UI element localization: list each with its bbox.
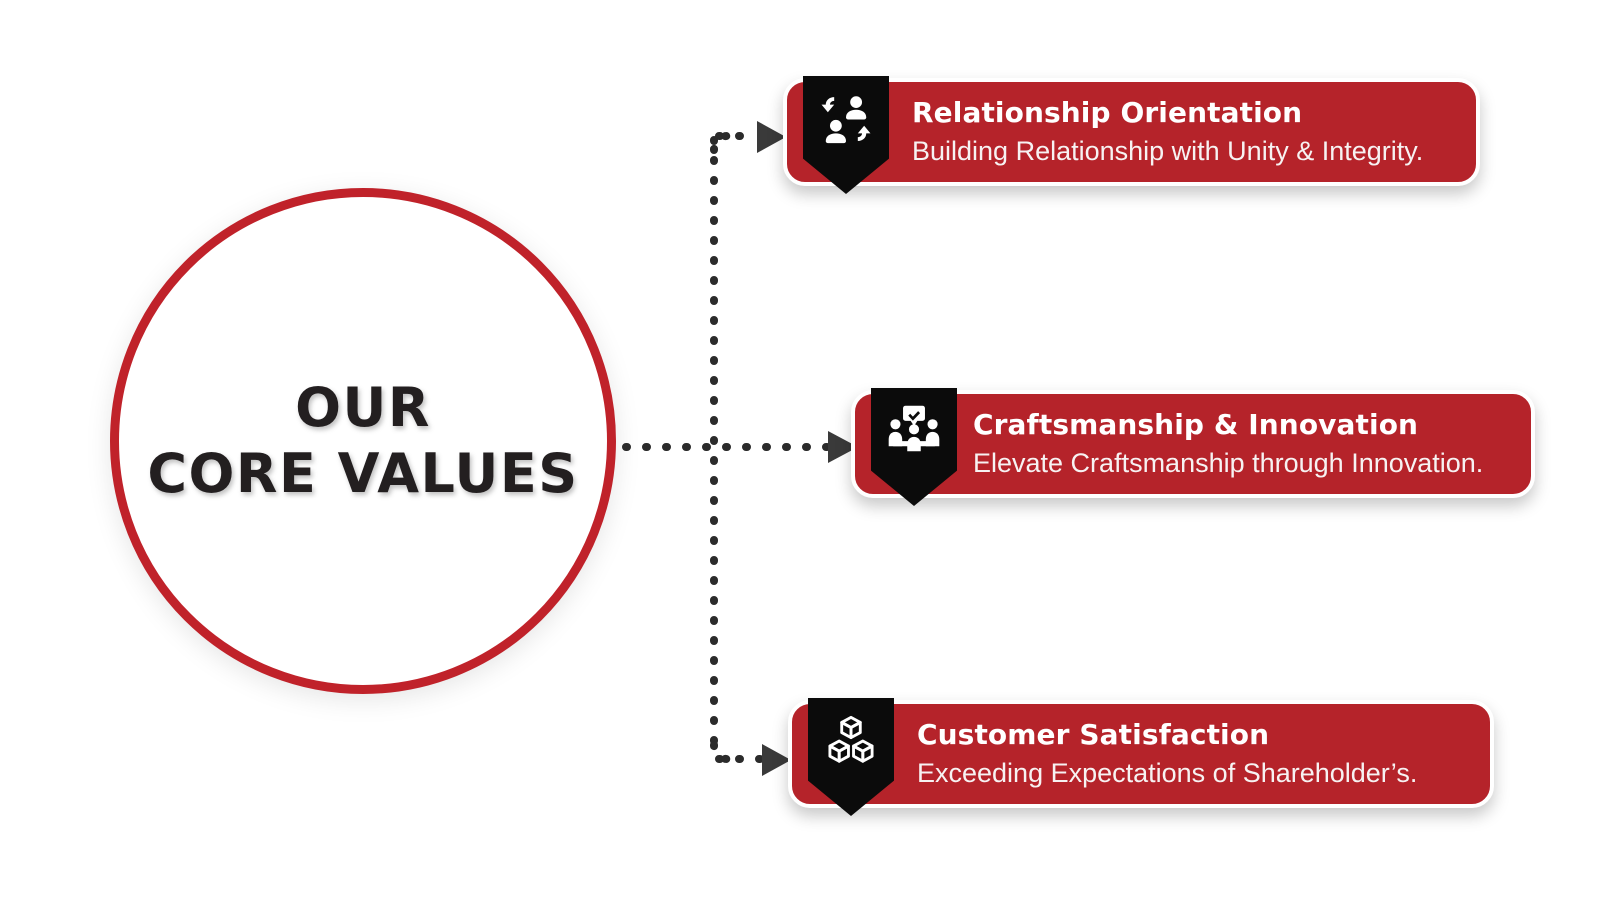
card-title: Customer Satisfaction	[917, 719, 1472, 751]
infographic-canvas: OUR CORE VALUES	[0, 0, 1600, 900]
team-meeting-approved-icon	[871, 388, 957, 506]
value-card-relationship-orientation[interactable]: Relationship Orientation Building Relati…	[783, 78, 1480, 186]
card-subtitle: Building Relationship with Unity & Integ…	[912, 135, 1458, 167]
value-card-customer-satisfaction[interactable]: Customer Satisfaction Exceeding Expectat…	[788, 700, 1494, 808]
card-title: Relationship Orientation	[912, 97, 1458, 129]
card-text-block: Relationship Orientation Building Relati…	[912, 82, 1476, 182]
people-exchange-icon	[803, 76, 889, 194]
arrowhead-bottom	[762, 744, 791, 776]
card-subtitle: Elevate Craftsmanship through Innovation…	[973, 447, 1513, 479]
card-text-block: Customer Satisfaction Exceeding Expectat…	[917, 704, 1490, 804]
card-text-block: Craftsmanship & Innovation Elevate Craft…	[973, 394, 1531, 494]
card-subtitle: Exceeding Expectations of Shareholder’s.	[917, 757, 1472, 789]
arrowhead-top	[757, 121, 786, 153]
stacked-cubes-icon	[808, 698, 894, 816]
value-card-craftsmanship-innovation[interactable]: Craftsmanship & Innovation Elevate Craft…	[851, 390, 1535, 498]
card-title: Craftsmanship & Innovation	[973, 409, 1513, 441]
